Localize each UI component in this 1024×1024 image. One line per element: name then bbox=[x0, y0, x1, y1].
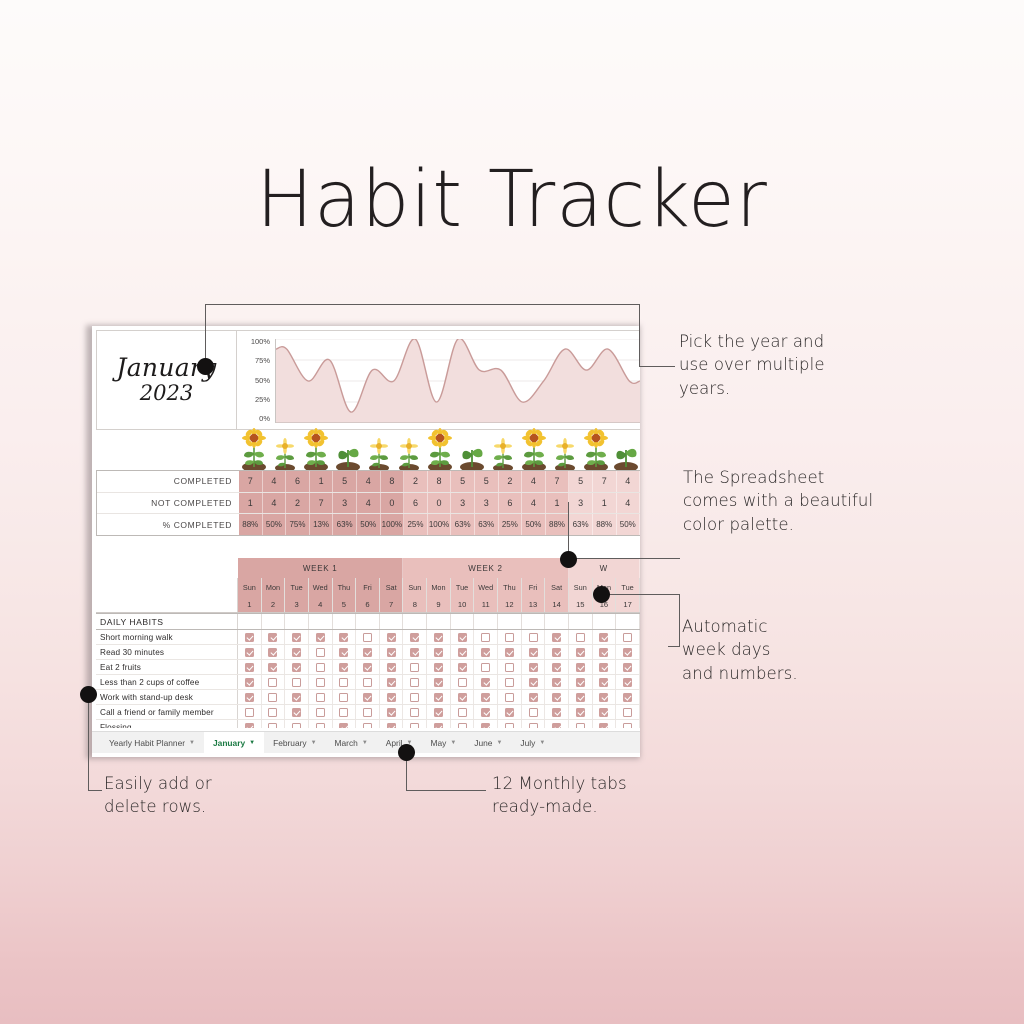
stats-cell[interactable]: 7 bbox=[310, 493, 334, 514]
habit-cell[interactable] bbox=[427, 630, 451, 644]
checkbox-checked-icon[interactable] bbox=[599, 723, 608, 729]
habit-cell[interactable] bbox=[474, 660, 498, 674]
checkbox-unchecked-icon[interactable] bbox=[529, 708, 538, 717]
stats-cell[interactable]: 0 bbox=[381, 493, 405, 514]
checkbox-checked-icon[interactable] bbox=[552, 708, 561, 717]
stats-cell[interactable]: 3 bbox=[475, 493, 499, 514]
habit-cell[interactable] bbox=[380, 690, 404, 704]
stats-cell[interactable]: 2 bbox=[404, 471, 428, 492]
checkbox-unchecked-icon[interactable] bbox=[505, 678, 514, 687]
habit-cell[interactable] bbox=[238, 675, 262, 689]
checkbox-unchecked-icon[interactable] bbox=[481, 663, 490, 672]
checkbox-checked-icon[interactable] bbox=[434, 708, 443, 717]
habit-cell[interactable] bbox=[498, 690, 522, 704]
habit-cell[interactable] bbox=[569, 630, 593, 644]
checkbox-unchecked-icon[interactable] bbox=[245, 708, 254, 717]
stats-cell[interactable]: 63% bbox=[475, 514, 499, 535]
habit-cell[interactable] bbox=[545, 720, 569, 728]
habit-cell[interactable] bbox=[380, 660, 404, 674]
habit-cell[interactable] bbox=[427, 720, 451, 728]
checkbox-checked-icon[interactable] bbox=[268, 648, 277, 657]
habit-cell[interactable] bbox=[451, 705, 475, 719]
checkbox-checked-icon[interactable] bbox=[245, 663, 254, 672]
checkbox-checked-icon[interactable] bbox=[599, 708, 608, 717]
checkbox-checked-icon[interactable] bbox=[434, 693, 443, 702]
checkbox-unchecked-icon[interactable] bbox=[529, 723, 538, 729]
habit-cell[interactable] bbox=[309, 630, 333, 644]
habit-cell[interactable] bbox=[356, 645, 380, 659]
habit-cell[interactable] bbox=[380, 720, 404, 728]
checkbox-checked-icon[interactable] bbox=[363, 693, 372, 702]
checkbox-checked-icon[interactable] bbox=[623, 693, 632, 702]
habit-cell[interactable] bbox=[356, 690, 380, 704]
habit-cell[interactable] bbox=[285, 630, 309, 644]
habit-cell[interactable] bbox=[285, 675, 309, 689]
habit-cell[interactable] bbox=[403, 705, 427, 719]
stats-cell[interactable]: 88% bbox=[546, 514, 570, 535]
habit-cell[interactable] bbox=[285, 720, 309, 728]
checkbox-checked-icon[interactable] bbox=[387, 663, 396, 672]
habit-cell[interactable] bbox=[403, 675, 427, 689]
checkbox-unchecked-icon[interactable] bbox=[316, 723, 325, 729]
stats-cell[interactable]: 8 bbox=[428, 471, 452, 492]
habit-cell[interactable] bbox=[474, 645, 498, 659]
habit-cell[interactable] bbox=[522, 720, 546, 728]
habit-cell[interactable] bbox=[474, 705, 498, 719]
checkbox-checked-icon[interactable] bbox=[268, 633, 277, 642]
habit-cell[interactable] bbox=[498, 675, 522, 689]
habit-cell[interactable] bbox=[380, 630, 404, 644]
checkbox-checked-icon[interactable] bbox=[434, 633, 443, 642]
habit-cell[interactable] bbox=[545, 675, 569, 689]
habit-cell[interactable] bbox=[403, 690, 427, 704]
checkbox-checked-icon[interactable] bbox=[245, 693, 254, 702]
checkbox-checked-icon[interactable] bbox=[387, 678, 396, 687]
stats-cell[interactable]: 25% bbox=[404, 514, 428, 535]
stats-cell[interactable]: 3 bbox=[451, 493, 475, 514]
checkbox-checked-icon[interactable] bbox=[434, 678, 443, 687]
habit-cell[interactable] bbox=[309, 690, 333, 704]
checkbox-checked-icon[interactable] bbox=[245, 678, 254, 687]
checkbox-checked-icon[interactable] bbox=[339, 723, 348, 729]
habit-cell[interactable] bbox=[522, 690, 546, 704]
checkbox-checked-icon[interactable] bbox=[458, 633, 467, 642]
chevron-down-icon[interactable]: ▼ bbox=[496, 740, 502, 746]
checkbox-checked-icon[interactable] bbox=[505, 648, 514, 657]
checkbox-unchecked-icon[interactable] bbox=[292, 678, 301, 687]
habit-cell[interactable] bbox=[569, 720, 593, 728]
habit-cell[interactable] bbox=[451, 660, 475, 674]
checkbox-unchecked-icon[interactable] bbox=[410, 678, 419, 687]
habit-cell[interactable] bbox=[356, 660, 380, 674]
habit-cell[interactable] bbox=[569, 690, 593, 704]
checkbox-checked-icon[interactable] bbox=[458, 648, 467, 657]
habit-cell[interactable] bbox=[356, 720, 380, 728]
checkbox-checked-icon[interactable] bbox=[552, 693, 561, 702]
habit-cell[interactable] bbox=[451, 675, 475, 689]
habit-cell[interactable] bbox=[569, 675, 593, 689]
habit-cell[interactable] bbox=[238, 720, 262, 728]
habit-cell[interactable] bbox=[427, 690, 451, 704]
habit-cell[interactable] bbox=[262, 630, 286, 644]
habit-cell[interactable] bbox=[451, 630, 475, 644]
checkbox-unchecked-icon[interactable] bbox=[363, 678, 372, 687]
habit-cell[interactable] bbox=[309, 720, 333, 728]
habit-cell[interactable] bbox=[593, 690, 617, 704]
habit-cell[interactable] bbox=[593, 645, 617, 659]
stats-cell[interactable]: 4 bbox=[263, 493, 287, 514]
stats-cell[interactable]: 88% bbox=[239, 514, 263, 535]
habit-cell[interactable] bbox=[238, 630, 262, 644]
habit-cell[interactable] bbox=[333, 690, 357, 704]
habit-cell[interactable] bbox=[474, 690, 498, 704]
habit-cell[interactable] bbox=[593, 720, 617, 728]
checkbox-checked-icon[interactable] bbox=[576, 678, 585, 687]
sheet-tab-yearly-habit-planner[interactable]: Yearly Habit Planner▼ bbox=[100, 732, 204, 753]
sheet-tab-bar[interactable]: Yearly Habit Planner▼January▼February▼Ma… bbox=[92, 731, 640, 753]
checkbox-unchecked-icon[interactable] bbox=[268, 693, 277, 702]
habit-cell[interactable] bbox=[262, 675, 286, 689]
habit-cell[interactable] bbox=[569, 660, 593, 674]
checkbox-unchecked-icon[interactable] bbox=[268, 678, 277, 687]
habit-cell[interactable] bbox=[545, 645, 569, 659]
habit-cell[interactable] bbox=[356, 675, 380, 689]
habit-cell[interactable] bbox=[427, 660, 451, 674]
habit-cell[interactable] bbox=[403, 645, 427, 659]
stats-cell[interactable]: 4 bbox=[263, 471, 287, 492]
habit-cell[interactable] bbox=[333, 675, 357, 689]
sheet-tab-january[interactable]: January▼ bbox=[204, 732, 264, 753]
checkbox-checked-icon[interactable] bbox=[434, 723, 443, 729]
sheet-tab-june[interactable]: June▼ bbox=[465, 732, 511, 753]
habit-cell[interactable] bbox=[593, 660, 617, 674]
habit-cell[interactable] bbox=[403, 660, 427, 674]
habit-cell[interactable] bbox=[356, 705, 380, 719]
checkbox-checked-icon[interactable] bbox=[481, 708, 490, 717]
habit-cell[interactable] bbox=[545, 690, 569, 704]
checkbox-unchecked-icon[interactable] bbox=[410, 723, 419, 729]
stats-cell[interactable]: 6 bbox=[404, 493, 428, 514]
stats-cell[interactable]: 50% bbox=[522, 514, 546, 535]
checkbox-unchecked-icon[interactable] bbox=[505, 693, 514, 702]
checkbox-checked-icon[interactable] bbox=[245, 633, 254, 642]
checkbox-unchecked-icon[interactable] bbox=[316, 708, 325, 717]
habit-cell[interactable] bbox=[309, 660, 333, 674]
habit-cell[interactable] bbox=[498, 660, 522, 674]
checkbox-checked-icon[interactable] bbox=[552, 648, 561, 657]
habit-cell[interactable] bbox=[262, 705, 286, 719]
checkbox-checked-icon[interactable] bbox=[410, 633, 419, 642]
checkbox-checked-icon[interactable] bbox=[458, 663, 467, 672]
habit-cell[interactable] bbox=[262, 720, 286, 728]
stats-cell[interactable]: 63% bbox=[333, 514, 357, 535]
habit-cell[interactable] bbox=[333, 720, 357, 728]
stats-cell[interactable]: 3 bbox=[333, 493, 357, 514]
checkbox-unchecked-icon[interactable] bbox=[623, 723, 632, 729]
habit-cell[interactable] bbox=[333, 645, 357, 659]
chevron-down-icon[interactable]: ▼ bbox=[362, 740, 368, 746]
habit-cell[interactable] bbox=[238, 690, 262, 704]
stats-cell[interactable]: 50% bbox=[617, 514, 641, 535]
checkbox-checked-icon[interactable] bbox=[623, 648, 632, 657]
checkbox-checked-icon[interactable] bbox=[245, 648, 254, 657]
habit-cell[interactable] bbox=[545, 660, 569, 674]
checkbox-unchecked-icon[interactable] bbox=[316, 678, 325, 687]
stats-cell[interactable]: 6 bbox=[499, 493, 523, 514]
habit-cell[interactable] bbox=[569, 645, 593, 659]
checkbox-checked-icon[interactable] bbox=[505, 708, 514, 717]
habit-cell[interactable] bbox=[451, 645, 475, 659]
stats-cell[interactable]: 100% bbox=[428, 514, 452, 535]
checkbox-checked-icon[interactable] bbox=[316, 633, 325, 642]
stats-cell[interactable]: 2 bbox=[286, 493, 310, 514]
habit-cell[interactable] bbox=[380, 645, 404, 659]
habit-cell[interactable] bbox=[427, 675, 451, 689]
sheet-tab-february[interactable]: February▼ bbox=[264, 732, 325, 753]
checkbox-unchecked-icon[interactable] bbox=[268, 723, 277, 729]
stats-cell[interactable]: 1 bbox=[546, 493, 570, 514]
habit-cell[interactable] bbox=[522, 705, 546, 719]
checkbox-checked-icon[interactable] bbox=[387, 633, 396, 642]
habit-cell[interactable] bbox=[262, 660, 286, 674]
checkbox-checked-icon[interactable] bbox=[599, 663, 608, 672]
habit-cell[interactable] bbox=[593, 705, 617, 719]
habit-cell[interactable] bbox=[333, 705, 357, 719]
stats-cell[interactable]: 63% bbox=[569, 514, 593, 535]
checkbox-checked-icon[interactable] bbox=[481, 678, 490, 687]
habit-cell[interactable] bbox=[309, 675, 333, 689]
sheet-tab-march[interactable]: March▼ bbox=[326, 732, 377, 753]
checkbox-unchecked-icon[interactable] bbox=[363, 708, 372, 717]
stats-cell[interactable]: 5 bbox=[569, 471, 593, 492]
stats-cell[interactable]: 4 bbox=[522, 471, 546, 492]
checkbox-unchecked-icon[interactable] bbox=[339, 693, 348, 702]
stats-cell[interactable]: 7 bbox=[239, 471, 263, 492]
checkbox-unchecked-icon[interactable] bbox=[410, 708, 419, 717]
checkbox-unchecked-icon[interactable] bbox=[316, 693, 325, 702]
habit-cell[interactable] bbox=[403, 720, 427, 728]
habit-cell[interactable] bbox=[593, 630, 617, 644]
habit-cell[interactable] bbox=[427, 705, 451, 719]
habit-cell[interactable] bbox=[616, 660, 640, 674]
checkbox-unchecked-icon[interactable] bbox=[339, 708, 348, 717]
checkbox-unchecked-icon[interactable] bbox=[410, 663, 419, 672]
habit-cell[interactable] bbox=[285, 705, 309, 719]
checkbox-checked-icon[interactable] bbox=[552, 678, 561, 687]
habit-cell[interactable] bbox=[285, 690, 309, 704]
checkbox-checked-icon[interactable] bbox=[292, 663, 301, 672]
checkbox-checked-icon[interactable] bbox=[268, 663, 277, 672]
chevron-down-icon[interactable]: ▼ bbox=[249, 740, 255, 746]
stats-cell[interactable]: 3 bbox=[569, 493, 593, 514]
checkbox-checked-icon[interactable] bbox=[363, 648, 372, 657]
checkbox-unchecked-icon[interactable] bbox=[576, 633, 585, 642]
checkbox-unchecked-icon[interactable] bbox=[576, 723, 585, 729]
stats-cell[interactable]: 8 bbox=[381, 471, 405, 492]
checkbox-unchecked-icon[interactable] bbox=[268, 708, 277, 717]
checkbox-checked-icon[interactable] bbox=[292, 648, 301, 657]
checkbox-checked-icon[interactable] bbox=[576, 708, 585, 717]
checkbox-checked-icon[interactable] bbox=[576, 663, 585, 672]
checkbox-checked-icon[interactable] bbox=[387, 648, 396, 657]
checkbox-checked-icon[interactable] bbox=[292, 693, 301, 702]
stats-cell[interactable]: 25% bbox=[499, 514, 523, 535]
checkbox-unchecked-icon[interactable] bbox=[339, 678, 348, 687]
chevron-down-icon[interactable]: ▼ bbox=[450, 740, 456, 746]
checkbox-checked-icon[interactable] bbox=[410, 648, 419, 657]
stats-cell[interactable]: 1 bbox=[593, 493, 617, 514]
habit-cell[interactable] bbox=[356, 630, 380, 644]
habit-cell[interactable] bbox=[451, 690, 475, 704]
checkbox-checked-icon[interactable] bbox=[363, 663, 372, 672]
checkbox-unchecked-icon[interactable] bbox=[505, 633, 514, 642]
chevron-down-icon[interactable]: ▼ bbox=[189, 740, 195, 746]
sheet-tab-may[interactable]: May▼ bbox=[422, 732, 466, 753]
stats-cell[interactable]: 4 bbox=[617, 471, 641, 492]
stats-cell[interactable]: 100% bbox=[381, 514, 405, 535]
checkbox-checked-icon[interactable] bbox=[552, 663, 561, 672]
checkbox-checked-icon[interactable] bbox=[339, 633, 348, 642]
checkbox-checked-icon[interactable] bbox=[623, 678, 632, 687]
habit-cell[interactable] bbox=[498, 645, 522, 659]
checkbox-unchecked-icon[interactable] bbox=[363, 723, 372, 729]
stats-cell[interactable]: 5 bbox=[333, 471, 357, 492]
checkbox-checked-icon[interactable] bbox=[552, 723, 561, 729]
checkbox-checked-icon[interactable] bbox=[339, 648, 348, 657]
checkbox-checked-icon[interactable] bbox=[599, 678, 608, 687]
checkbox-unchecked-icon[interactable] bbox=[458, 708, 467, 717]
checkbox-checked-icon[interactable] bbox=[529, 648, 538, 657]
checkbox-checked-icon[interactable] bbox=[339, 663, 348, 672]
habit-cell[interactable] bbox=[616, 645, 640, 659]
habit-cell[interactable] bbox=[285, 645, 309, 659]
habit-cell[interactable] bbox=[309, 645, 333, 659]
checkbox-checked-icon[interactable] bbox=[481, 693, 490, 702]
habit-cell[interactable] bbox=[474, 720, 498, 728]
checkbox-unchecked-icon[interactable] bbox=[316, 648, 325, 657]
habit-cell[interactable] bbox=[380, 675, 404, 689]
stats-cell[interactable]: 75% bbox=[286, 514, 310, 535]
checkbox-checked-icon[interactable] bbox=[481, 723, 490, 729]
checkbox-checked-icon[interactable] bbox=[458, 693, 467, 702]
stats-cell[interactable]: 4 bbox=[357, 493, 381, 514]
checkbox-unchecked-icon[interactable] bbox=[316, 663, 325, 672]
habit-cell[interactable] bbox=[238, 645, 262, 659]
checkbox-checked-icon[interactable] bbox=[434, 663, 443, 672]
habit-cell[interactable] bbox=[238, 660, 262, 674]
habit-cell[interactable] bbox=[616, 720, 640, 728]
stats-cell[interactable]: 13% bbox=[310, 514, 334, 535]
checkbox-unchecked-icon[interactable] bbox=[410, 693, 419, 702]
habit-cell[interactable] bbox=[616, 675, 640, 689]
habit-cell[interactable] bbox=[616, 690, 640, 704]
habit-cell[interactable] bbox=[262, 690, 286, 704]
stats-cell[interactable]: 63% bbox=[451, 514, 475, 535]
stats-cell[interactable]: 2 bbox=[499, 471, 523, 492]
stats-cell[interactable]: 4 bbox=[617, 493, 641, 514]
habit-cell[interactable] bbox=[522, 675, 546, 689]
habit-cell[interactable] bbox=[309, 705, 333, 719]
stats-cell[interactable]: 1 bbox=[310, 471, 334, 492]
habit-cell[interactable] bbox=[522, 645, 546, 659]
checkbox-checked-icon[interactable] bbox=[599, 633, 608, 642]
habit-cell[interactable] bbox=[474, 630, 498, 644]
habit-cell[interactable] bbox=[498, 630, 522, 644]
checkbox-checked-icon[interactable] bbox=[529, 663, 538, 672]
checkbox-checked-icon[interactable] bbox=[292, 708, 301, 717]
checkbox-checked-icon[interactable] bbox=[599, 648, 608, 657]
stats-cell[interactable]: 50% bbox=[357, 514, 381, 535]
checkbox-checked-icon[interactable] bbox=[552, 633, 561, 642]
checkbox-unchecked-icon[interactable] bbox=[458, 678, 467, 687]
checkbox-checked-icon[interactable] bbox=[292, 633, 301, 642]
checkbox-unchecked-icon[interactable] bbox=[529, 633, 538, 642]
sheet-tab-july[interactable]: July▼ bbox=[511, 732, 554, 753]
checkbox-checked-icon[interactable] bbox=[434, 648, 443, 657]
habit-cell[interactable] bbox=[238, 705, 262, 719]
stats-cell[interactable]: 88% bbox=[593, 514, 617, 535]
habit-cell[interactable] bbox=[498, 720, 522, 728]
checkbox-checked-icon[interactable] bbox=[576, 693, 585, 702]
habit-cell[interactable] bbox=[333, 630, 357, 644]
stats-cell[interactable]: 7 bbox=[546, 471, 570, 492]
stats-cell[interactable]: 0 bbox=[428, 493, 452, 514]
habit-cell[interactable] bbox=[451, 720, 475, 728]
checkbox-checked-icon[interactable] bbox=[387, 723, 396, 729]
habit-cell[interactable] bbox=[380, 705, 404, 719]
chevron-down-icon[interactable]: ▼ bbox=[311, 740, 317, 746]
habit-cell[interactable] bbox=[333, 660, 357, 674]
habit-cell[interactable] bbox=[285, 660, 309, 674]
habit-cell[interactable] bbox=[522, 660, 546, 674]
habit-cell[interactable] bbox=[569, 705, 593, 719]
checkbox-checked-icon[interactable] bbox=[529, 678, 538, 687]
checkbox-checked-icon[interactable] bbox=[387, 693, 396, 702]
stats-cell[interactable]: 1 bbox=[239, 493, 263, 514]
habit-cell[interactable] bbox=[474, 675, 498, 689]
checkbox-checked-icon[interactable] bbox=[576, 648, 585, 657]
checkbox-unchecked-icon[interactable] bbox=[292, 723, 301, 729]
stats-cell[interactable]: 6 bbox=[286, 471, 310, 492]
habit-cell[interactable] bbox=[593, 675, 617, 689]
stats-cell[interactable]: 5 bbox=[451, 471, 475, 492]
checkbox-checked-icon[interactable] bbox=[481, 648, 490, 657]
checkbox-checked-icon[interactable] bbox=[387, 708, 396, 717]
habit-cell[interactable] bbox=[545, 630, 569, 644]
habit-cell[interactable] bbox=[403, 630, 427, 644]
checkbox-unchecked-icon[interactable] bbox=[481, 633, 490, 642]
checkbox-unchecked-icon[interactable] bbox=[458, 723, 467, 729]
chevron-down-icon[interactable]: ▼ bbox=[539, 740, 545, 746]
stats-cell[interactable]: 7 bbox=[593, 471, 617, 492]
habit-cell[interactable] bbox=[545, 705, 569, 719]
stats-cell[interactable]: 4 bbox=[522, 493, 546, 514]
checkbox-unchecked-icon[interactable] bbox=[505, 723, 514, 729]
habit-cell[interactable] bbox=[616, 630, 640, 644]
habit-cell[interactable] bbox=[498, 705, 522, 719]
checkbox-checked-icon[interactable] bbox=[623, 663, 632, 672]
checkbox-checked-icon[interactable] bbox=[529, 693, 538, 702]
habit-cell[interactable] bbox=[427, 645, 451, 659]
checkbox-unchecked-icon[interactable] bbox=[623, 708, 632, 717]
habit-cell[interactable] bbox=[522, 630, 546, 644]
stats-cell[interactable]: 5 bbox=[475, 471, 499, 492]
checkbox-unchecked-icon[interactable] bbox=[363, 633, 372, 642]
checkbox-checked-icon[interactable] bbox=[599, 693, 608, 702]
checkbox-unchecked-icon[interactable] bbox=[623, 633, 632, 642]
habit-cell[interactable] bbox=[262, 645, 286, 659]
habit-cell[interactable] bbox=[616, 705, 640, 719]
